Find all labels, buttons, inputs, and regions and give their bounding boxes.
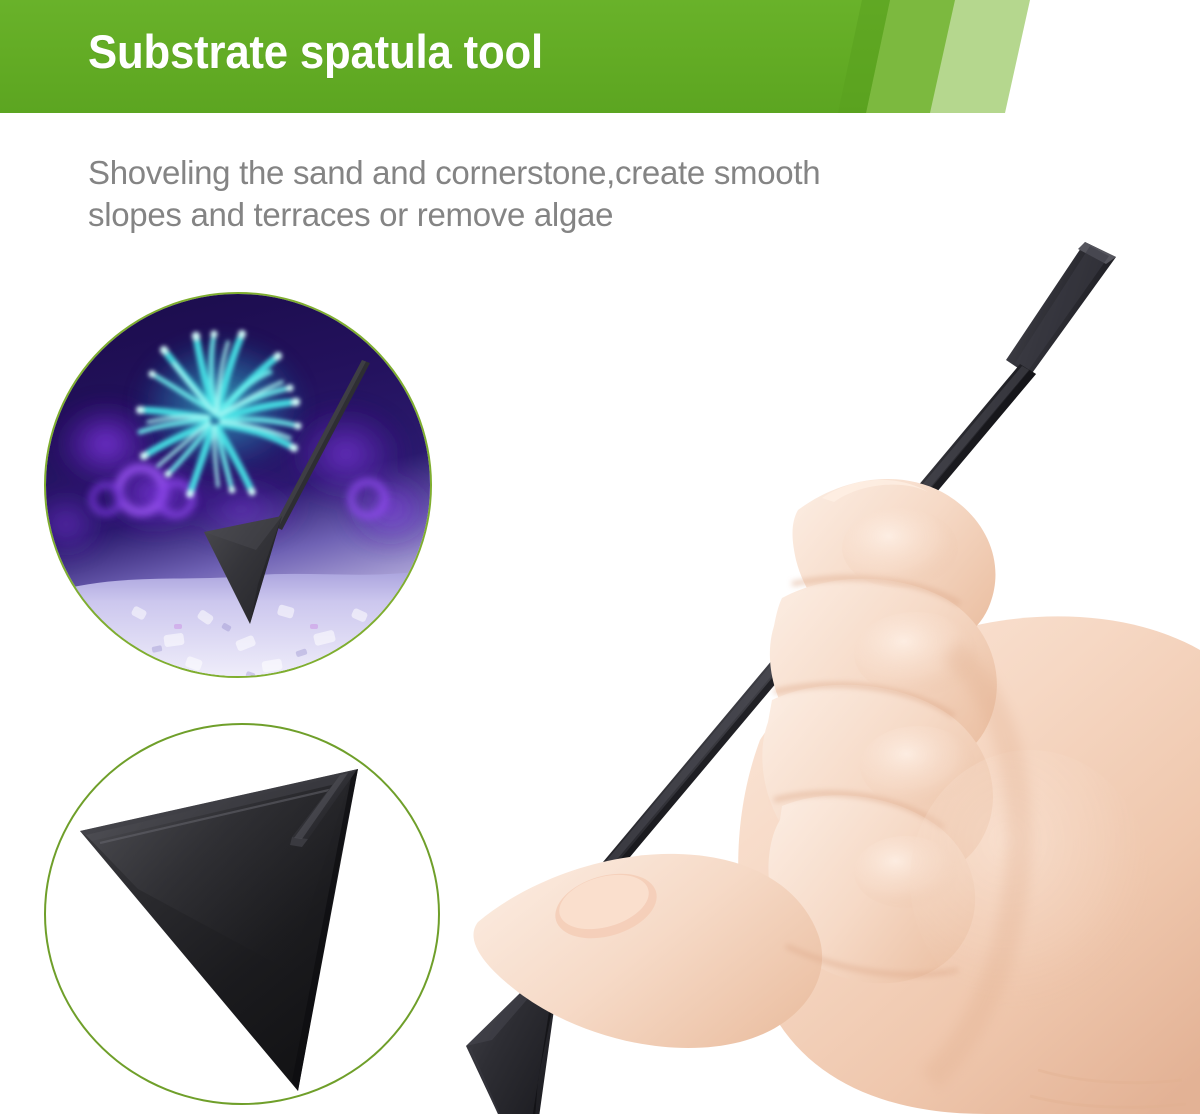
aquarium-scene-image bbox=[46, 294, 430, 676]
hand-holding-spatula-image bbox=[430, 180, 1200, 1114]
hero-illustration bbox=[430, 180, 1200, 1114]
header-banner: Substrate spatula tool bbox=[0, 0, 1200, 118]
hand bbox=[473, 479, 1200, 1114]
page-title: Substrate spatula tool bbox=[88, 22, 543, 82]
blade-closeup-image bbox=[40, 721, 450, 1113]
aquarium-circle-frame bbox=[44, 292, 432, 678]
blade-circle-frame bbox=[44, 723, 440, 1105]
infographic-page: Substrate spatula tool Shoveling the san… bbox=[0, 0, 1200, 1114]
rod-stub bbox=[290, 771, 356, 847]
